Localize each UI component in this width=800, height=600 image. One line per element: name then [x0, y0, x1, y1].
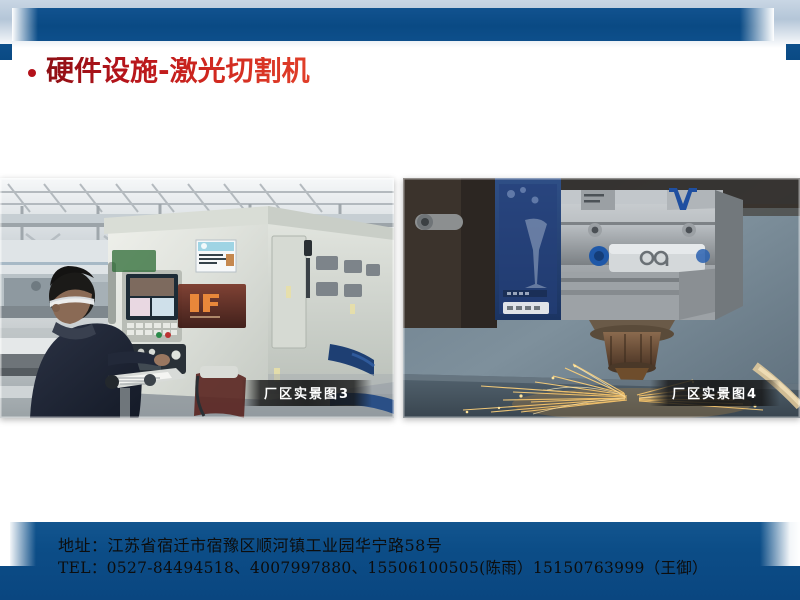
top-banner-fade-right	[740, 8, 774, 41]
top-left-accent-tab	[0, 44, 12, 60]
page-title: 硬件设施-激光切割机	[46, 57, 310, 85]
footer: 地址：江苏省宿迁市宿豫区顺河镇工业园华宁路58号 TEL：0527-844945…	[0, 512, 800, 600]
photo-caption-left: 厂区实景图3	[242, 380, 372, 406]
photo-laser-cutting-head-sparks: 厂区实景图4	[403, 178, 800, 418]
top-banner-strip	[0, 0, 800, 48]
slide-title-row: 硬件设施-激光切割机	[28, 57, 310, 85]
bullet-dot-icon	[28, 69, 36, 77]
footer-fade-right	[760, 522, 800, 566]
photo-laser-cutting-machine-operator: 厂区实景图3	[0, 178, 394, 418]
top-banner-bar	[12, 8, 774, 41]
footer-address: 地址：江苏省宿迁市宿豫区顺河镇工业园华宁路58号	[58, 534, 708, 557]
photo-caption-right: 厂区实景图4	[650, 380, 780, 406]
footer-fade-left	[0, 522, 36, 566]
footer-telephone: TEL：0527-84494518、4007997880、15506100505…	[58, 557, 708, 579]
slide-canvas: 硬件设施-激光切割机	[0, 0, 800, 600]
footer-contact-block: 地址：江苏省宿迁市宿豫区顺河镇工业园华宁路58号 TEL：0527-844945…	[58, 534, 708, 580]
top-banner-fade-left	[12, 8, 38, 41]
top-right-accent-tab	[786, 44, 800, 60]
